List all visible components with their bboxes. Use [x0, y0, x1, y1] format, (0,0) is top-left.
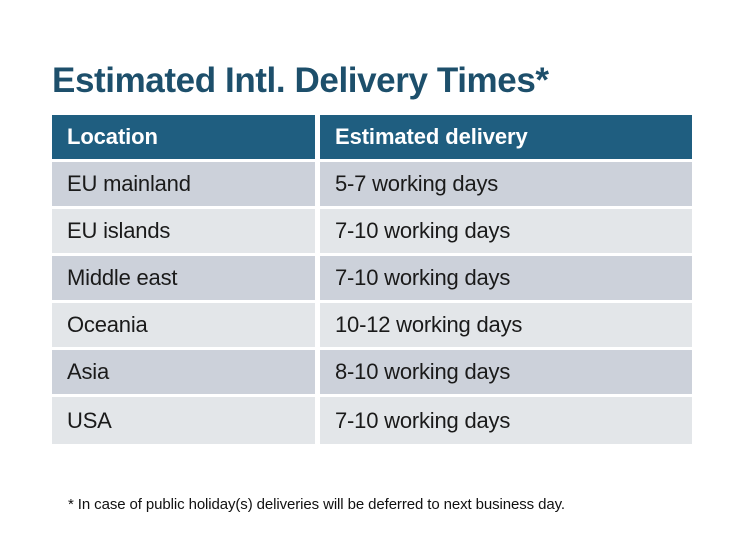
table-body: EU mainland 5-7 working days EU islands …	[52, 162, 692, 444]
cell-location: EU mainland	[52, 162, 320, 209]
footnote: * In case of public holiday(s) deliverie…	[68, 495, 718, 515]
table-header: Location Estimated delivery	[52, 115, 692, 162]
cell-location: Middle east	[52, 256, 320, 303]
table-row: EU islands 7-10 working days	[52, 209, 692, 256]
cell-delivery: 7-10 working days	[320, 397, 692, 444]
page-title: Estimated Intl. Delivery Times*	[52, 59, 712, 103]
delivery-times-page: Estimated Intl. Delivery Times* Location…	[0, 0, 745, 536]
cell-location: EU islands	[52, 209, 320, 256]
column-header-location: Location	[52, 115, 320, 162]
table-row: Asia 8-10 working days	[52, 350, 692, 397]
cell-location: USA	[52, 397, 320, 444]
table-row: Middle east 7-10 working days	[52, 256, 692, 303]
cell-delivery: 10-12 working days	[320, 303, 692, 350]
cell-delivery: 7-10 working days	[320, 256, 692, 303]
table-row: Oceania 10-12 working days	[52, 303, 692, 350]
table-row: EU mainland 5-7 working days	[52, 162, 692, 209]
table-header-row: Location Estimated delivery	[52, 115, 692, 162]
delivery-times-table: Location Estimated delivery EU mainland …	[52, 115, 692, 444]
cell-location: Asia	[52, 350, 320, 397]
table-row: USA 7-10 working days	[52, 397, 692, 444]
cell-delivery: 5-7 working days	[320, 162, 692, 209]
column-header-estimated-delivery: Estimated delivery	[320, 115, 692, 162]
cell-delivery: 8-10 working days	[320, 350, 692, 397]
cell-delivery: 7-10 working days	[320, 209, 692, 256]
cell-location: Oceania	[52, 303, 320, 350]
